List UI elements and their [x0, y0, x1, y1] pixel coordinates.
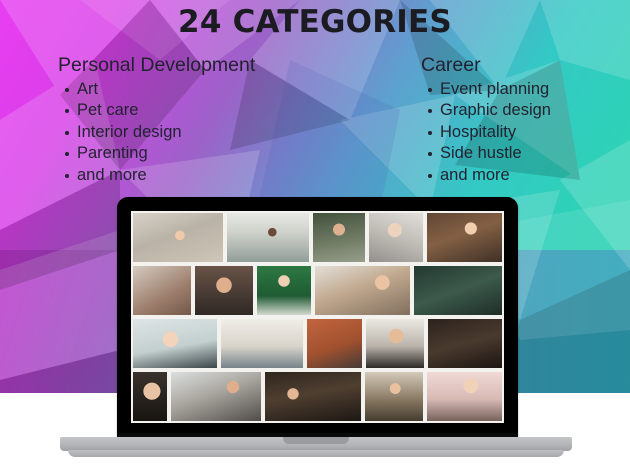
instructor-photo: [225, 211, 311, 264]
instructor-photo: [367, 211, 425, 264]
instructor-photo: [305, 317, 364, 370]
photo-frame: [193, 264, 255, 317]
instructor-photo: [255, 264, 313, 317]
laptop-base-notch: [283, 437, 349, 444]
laptop-screen: [131, 211, 504, 423]
instructor-photo: [313, 264, 412, 317]
photo-frame: [426, 317, 504, 370]
laptop-device-mockup: [0, 0, 630, 473]
instructor-photo: [193, 264, 255, 317]
instructor-photo: [131, 264, 193, 317]
photo-grid-row: [131, 211, 504, 264]
instructor-photo: [364, 317, 426, 370]
instructor-photo: [131, 370, 169, 423]
instructor-photo: [263, 370, 363, 423]
instructor-photo: [131, 211, 225, 264]
photo-frame: [225, 211, 311, 264]
photo-grid-row: [131, 370, 504, 423]
instructor-photo: [169, 370, 263, 423]
instructor-photo: [425, 370, 504, 423]
photo-frame: [364, 317, 426, 370]
photo-grid-row: [131, 317, 504, 370]
photo-frame: [363, 370, 425, 423]
photo-frame: [425, 211, 504, 264]
instructor-photo: [412, 264, 504, 317]
photo-frame: [412, 264, 504, 317]
photo-frame: [219, 317, 305, 370]
instructor-photo: [131, 317, 219, 370]
photo-frame: [425, 370, 504, 423]
instructor-photo: [425, 211, 504, 264]
photo-frame: [131, 264, 193, 317]
photo-frame: [255, 264, 313, 317]
instructor-photo: [219, 317, 305, 370]
instructor-photo: [363, 370, 425, 423]
instructor-photo: [426, 317, 504, 370]
photo-frame: [313, 264, 412, 317]
photo-grid-row: [131, 264, 504, 317]
laptop-lid: [117, 197, 518, 437]
promo-banner: 24 CATEGORIES Personal Development Art P…: [0, 0, 630, 473]
photo-frame: [131, 211, 225, 264]
photo-frame: [305, 317, 364, 370]
photo-frame: [263, 370, 363, 423]
photo-frame: [131, 317, 219, 370]
photo-frame: [131, 370, 169, 423]
photo-frame: [311, 211, 367, 264]
photo-frame: [169, 370, 263, 423]
instructor-photo: [311, 211, 367, 264]
laptop-base-lip: [68, 450, 564, 457]
photo-frame: [367, 211, 425, 264]
